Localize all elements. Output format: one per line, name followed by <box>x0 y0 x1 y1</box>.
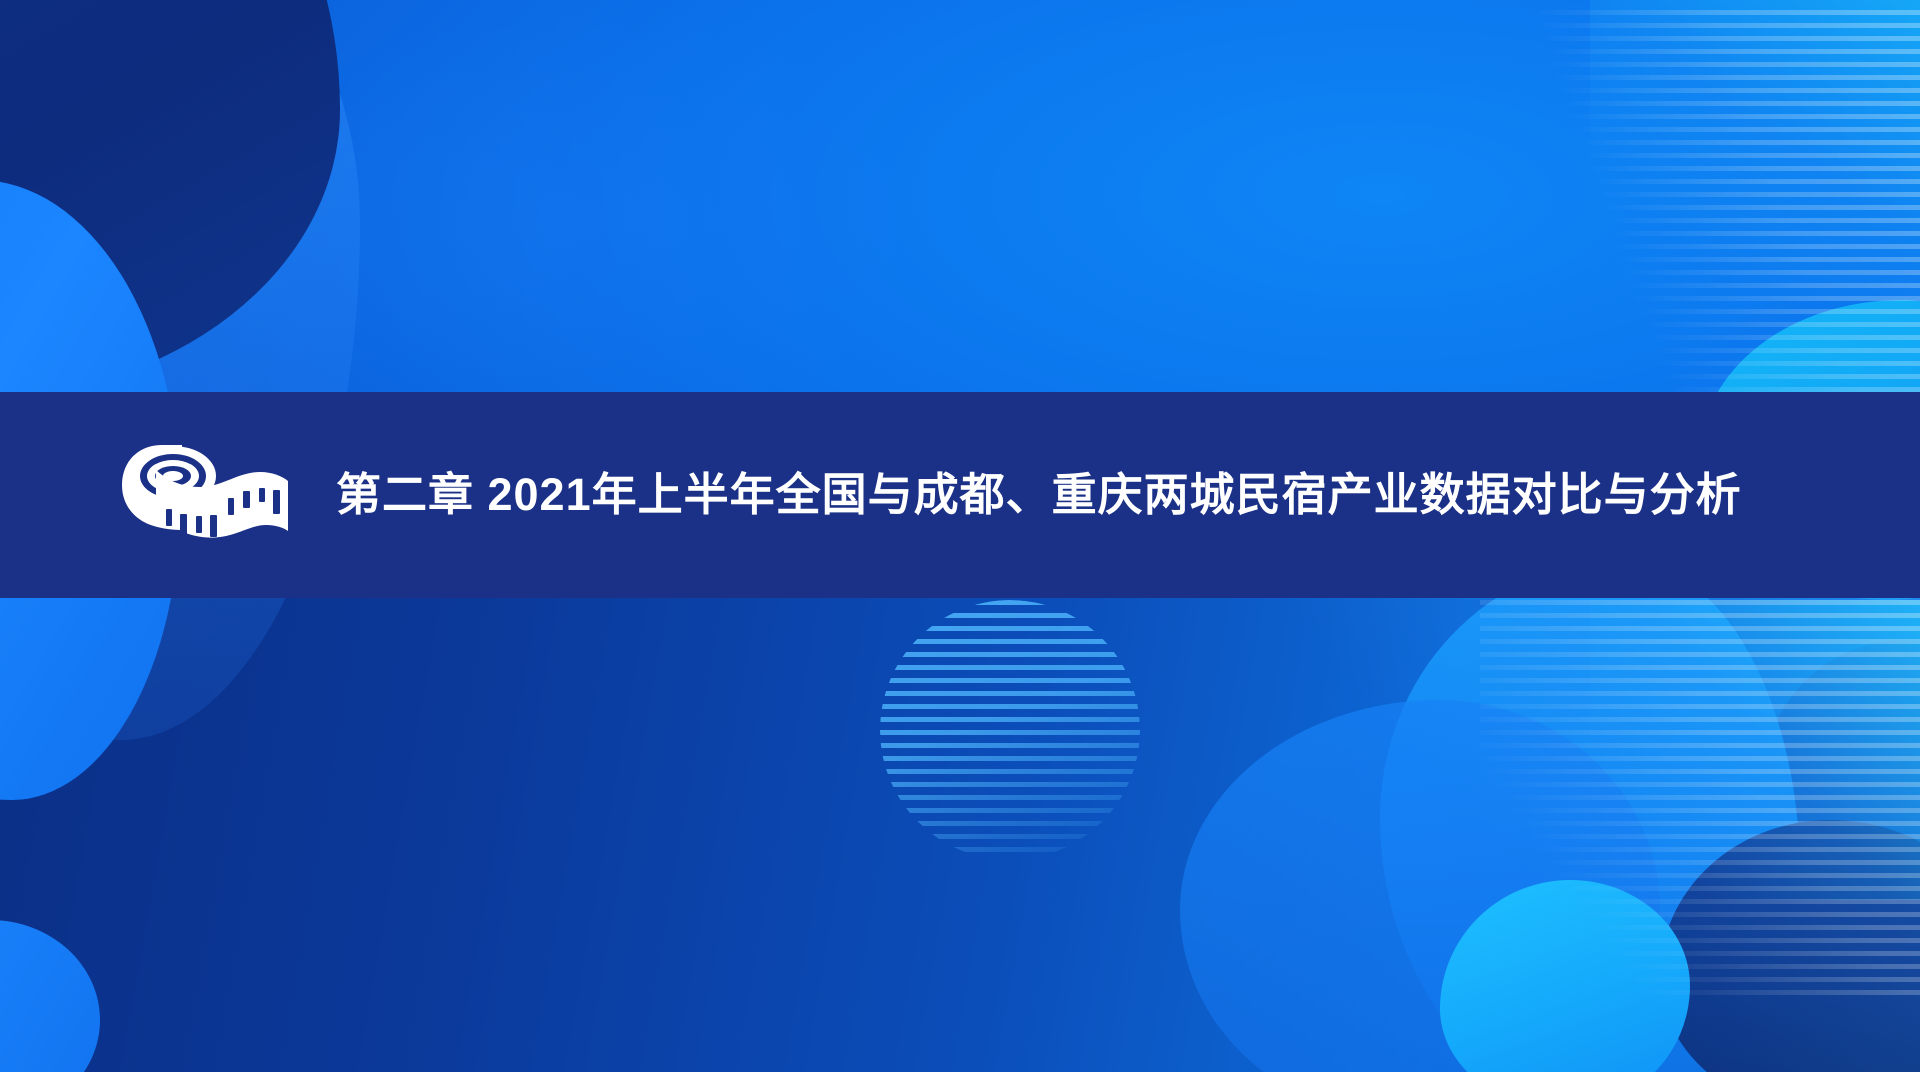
section-title-band: 第二章 2021年上半年全国与成都、重庆两城民宿产业数据对比与分析 <box>0 392 1920 598</box>
striped-sphere-decor <box>880 600 1140 860</box>
presentation-slide: 第二章 2021年上半年全国与成都、重庆两城民宿产业数据对比与分析 <box>0 0 1920 1080</box>
tape-measure-icon <box>118 443 290 547</box>
halftone-stripes-bottom-right-decor <box>1480 600 1920 1000</box>
section-title-text: 第二章 2021年上半年全国与成都、重庆两城民宿产业数据对比与分析 <box>336 470 1742 520</box>
halftone-stripes-top-right-decor <box>1520 10 1920 410</box>
bottom-white-strip <box>0 1072 1920 1080</box>
